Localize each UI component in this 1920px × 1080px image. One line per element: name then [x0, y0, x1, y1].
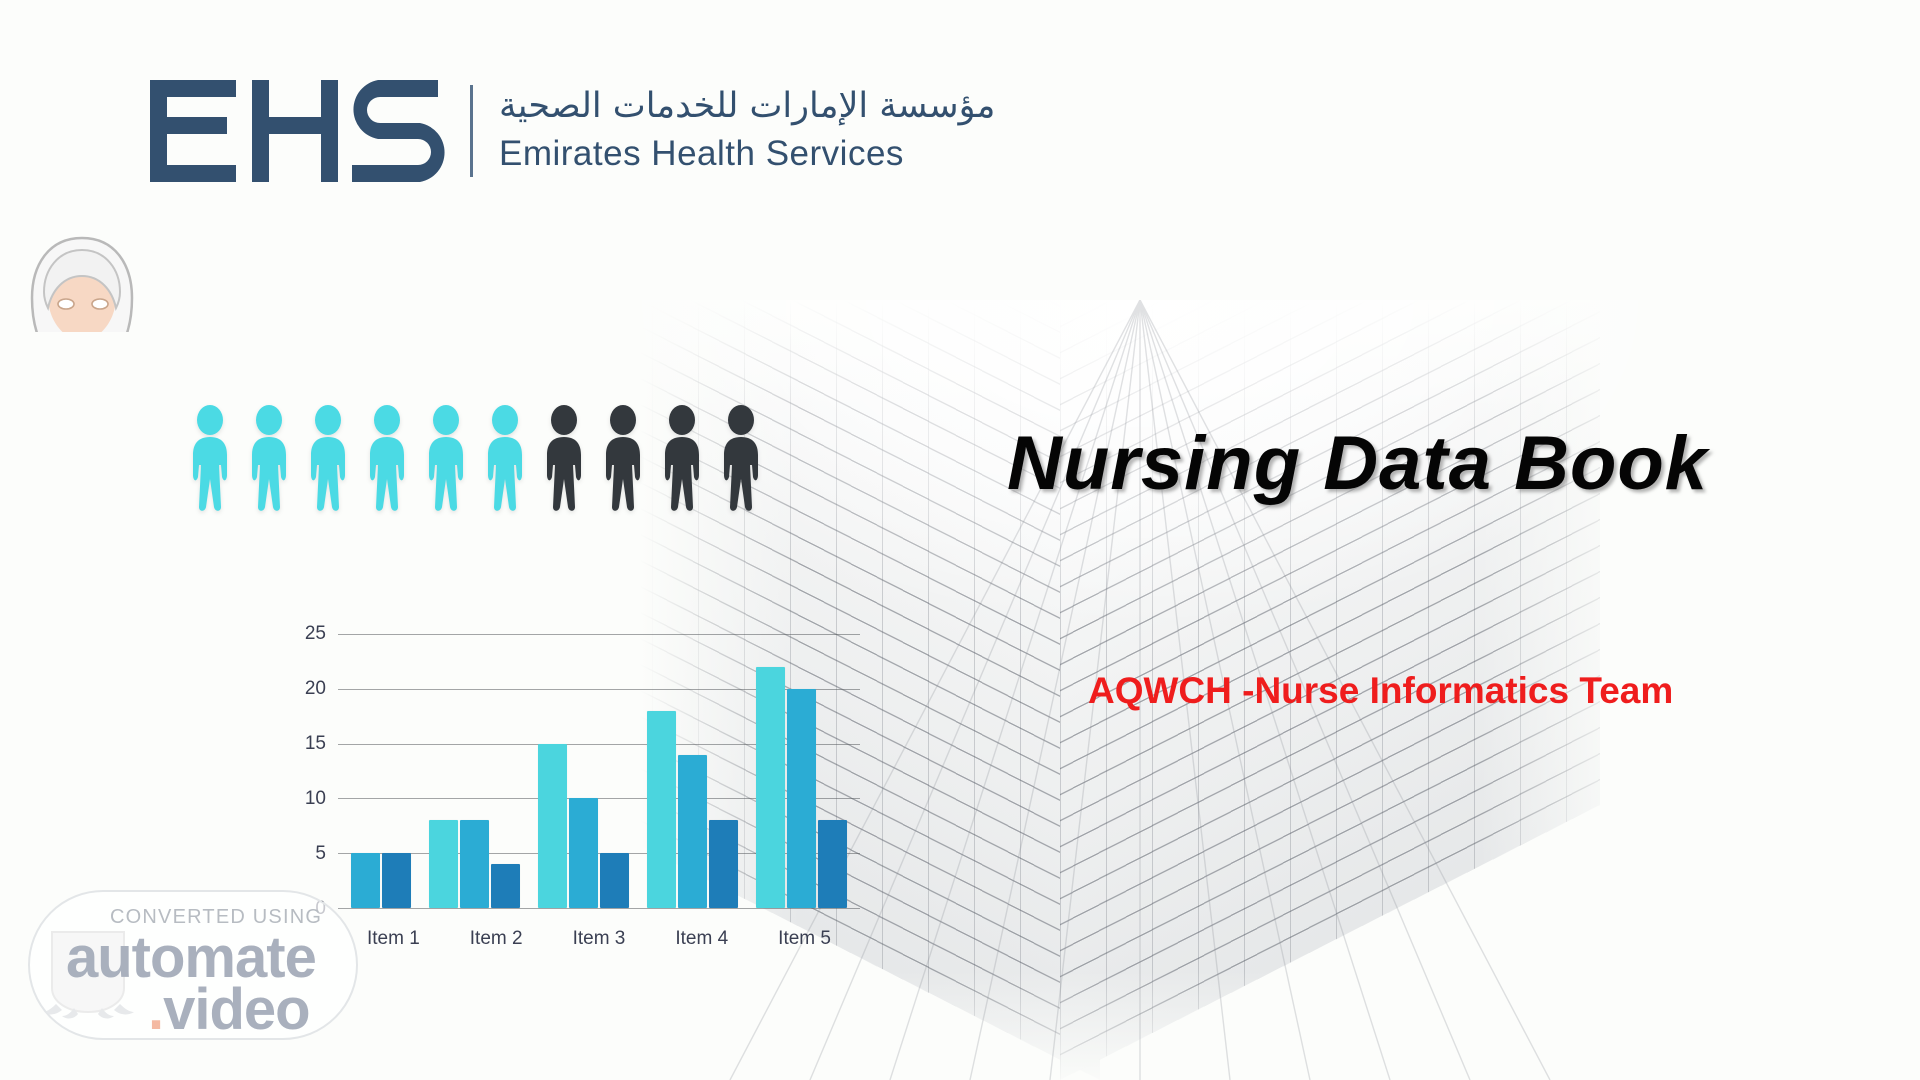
person-icon-1	[185, 405, 235, 513]
chart-y-tick-label: 15	[305, 733, 326, 755]
chart-x-tick-label: Item 1	[367, 928, 420, 950]
person-icon-3	[303, 405, 353, 513]
watermark-dot: .	[148, 977, 163, 1040]
logo-arabic-name: مؤسسة الإمارات للخدمات الصحية	[499, 86, 995, 127]
chart-bar	[756, 667, 785, 908]
hijab-avatar-icon	[18, 232, 146, 332]
person-icon-7	[539, 405, 589, 513]
people-infographic	[185, 405, 766, 513]
ehs-monogram-icon	[148, 78, 448, 184]
chart-x-tick-label: Item 3	[573, 928, 626, 950]
chart-y-tick-label: 5	[315, 843, 326, 865]
watermark-video-label: .video	[148, 976, 310, 1040]
chart-bar-group	[538, 612, 629, 908]
chart-bars	[338, 612, 860, 908]
chart-bar	[429, 820, 458, 908]
chart-bar	[491, 864, 520, 908]
chart-bar	[600, 853, 629, 908]
logo-english-name: Emirates Health Services	[499, 132, 995, 176]
person-icon-9	[657, 405, 707, 513]
page-title: Nursing Data Book	[1007, 420, 1708, 507]
presentation-slide: مؤسسة الإمارات للخدمات الصحية Emirates H…	[0, 0, 1920, 1080]
chart-bar	[678, 755, 707, 908]
logo-divider	[470, 85, 473, 177]
chart-bar	[351, 853, 380, 908]
chart-bar-group	[756, 612, 847, 908]
bar-chart: 0510152025 Item 1Item 2Item 3Item 4Item …	[260, 600, 860, 970]
chart-y-tick-label: 25	[305, 623, 326, 645]
chart-bar-group	[429, 612, 520, 908]
subtitle: AQWCH -Nurse Informatics Team	[1088, 670, 1673, 712]
chart-bar	[460, 820, 489, 908]
person-icon-4	[362, 405, 412, 513]
chart-x-tick-label: Item 2	[470, 928, 523, 950]
person-icon-2	[244, 405, 294, 513]
ehs-logo: مؤسسة الإمارات للخدمات الصحية Emirates H…	[148, 78, 995, 184]
chart-bar-group	[351, 612, 411, 908]
chart-bar	[787, 689, 816, 908]
chart-y-tick-label: 10	[305, 788, 326, 810]
chart-bar	[569, 798, 598, 908]
chart-bar	[382, 853, 411, 908]
person-icon-6	[480, 405, 530, 513]
chart-bar	[709, 820, 738, 908]
person-icon-8	[598, 405, 648, 513]
watermark-video-text: video	[163, 977, 310, 1040]
chart-x-axis-labels: Item 1Item 2Item 3Item 4Item 5	[338, 928, 860, 950]
chart-x-tick-label: Item 4	[675, 928, 728, 950]
person-icon-10	[716, 405, 766, 513]
chart-x-tick-label: Item 5	[778, 928, 831, 950]
chart-bar	[818, 820, 847, 908]
chart-bar-group	[647, 612, 738, 908]
chart-bar	[538, 744, 567, 908]
chart-gridline: 0	[338, 908, 860, 909]
person-icon-5	[421, 405, 471, 513]
chart-bar	[647, 711, 676, 908]
automate-video-watermark: CONVERTED USING automate .video	[28, 890, 358, 1040]
chart-plot-area: 0510152025	[338, 612, 860, 908]
chart-y-tick-label: 20	[305, 678, 326, 700]
avatar	[18, 232, 146, 332]
